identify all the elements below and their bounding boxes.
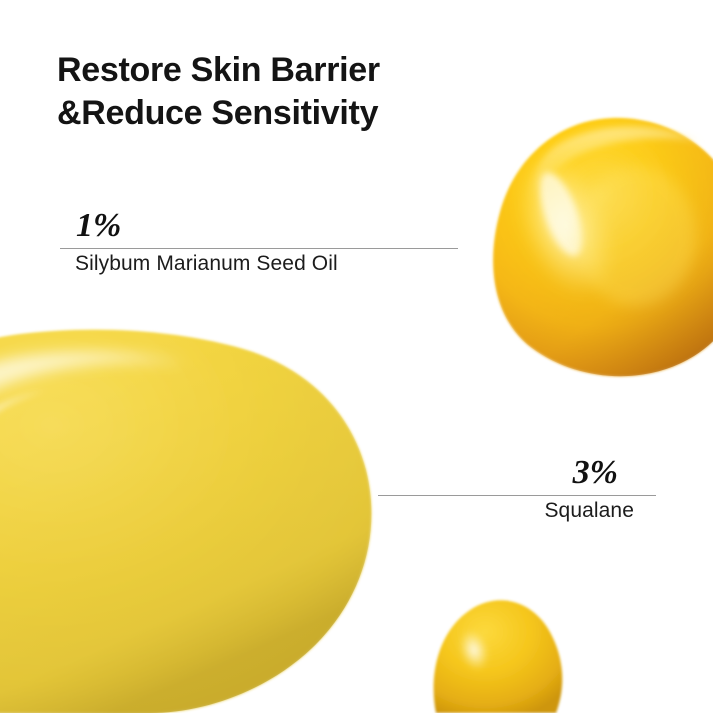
- gold-droplet-bottom: [434, 600, 563, 713]
- ingredient-percent-1: 1%: [60, 206, 460, 246]
- ingredient-percent-2: 3%: [378, 453, 656, 493]
- page-title-line-1: Restore Skin Barrier: [57, 49, 617, 92]
- ingredient-callout-1: 1% Silybum Marianum Seed Oil: [60, 206, 460, 279]
- ingredient-name-1: Silybum Marianum Seed Oil: [60, 249, 460, 279]
- amber-droplet-top-right: [493, 118, 713, 376]
- page-title-line-2: &Reduce Sensitivity: [57, 92, 617, 135]
- page-title: Restore Skin Barrier &Reduce Sensitivity: [57, 49, 617, 135]
- ingredient-callout-2: 3% Squalane: [378, 453, 656, 526]
- lemon-blob-large-left: [0, 330, 371, 713]
- product-ingredient-graphic: Restore Skin Barrier &Reduce Sensitivity…: [0, 0, 713, 713]
- ingredient-name-2: Squalane: [378, 496, 656, 526]
